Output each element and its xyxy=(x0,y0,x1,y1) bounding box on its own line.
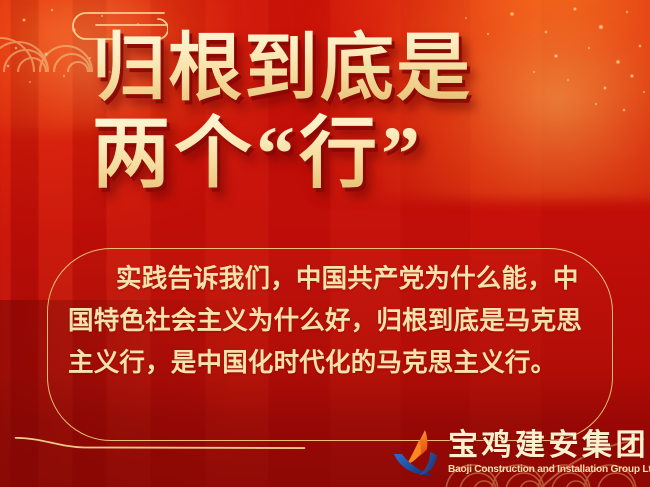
logo-wordmark: 宝鸡建安集团 Baoji Construction and Installati… xyxy=(448,428,650,476)
flame-swoosh-mark-icon xyxy=(392,428,444,478)
company-logo: 宝鸡建安集团 Baoji Construction and Installati… xyxy=(392,428,644,482)
logo-english-name: Baoji Construction and Installation Grou… xyxy=(448,463,650,476)
poster-canvas: 归根到底是 两个“行” 实践告诉我们，中国共产党为什么能，中国特色社会主义为什么… xyxy=(0,0,650,487)
title-line-2: 两个“行” xyxy=(92,112,612,196)
logo-chinese-name: 宝鸡建安集团 xyxy=(448,430,650,462)
quote-text: 实践告诉我们，中国共产党为什么能，中国特色社会主义为什么好，归根到底是马克思主义… xyxy=(68,258,594,384)
poster-title: 归根到底是 两个“行” xyxy=(92,26,612,196)
title-line-1: 归根到底是 xyxy=(92,26,612,112)
